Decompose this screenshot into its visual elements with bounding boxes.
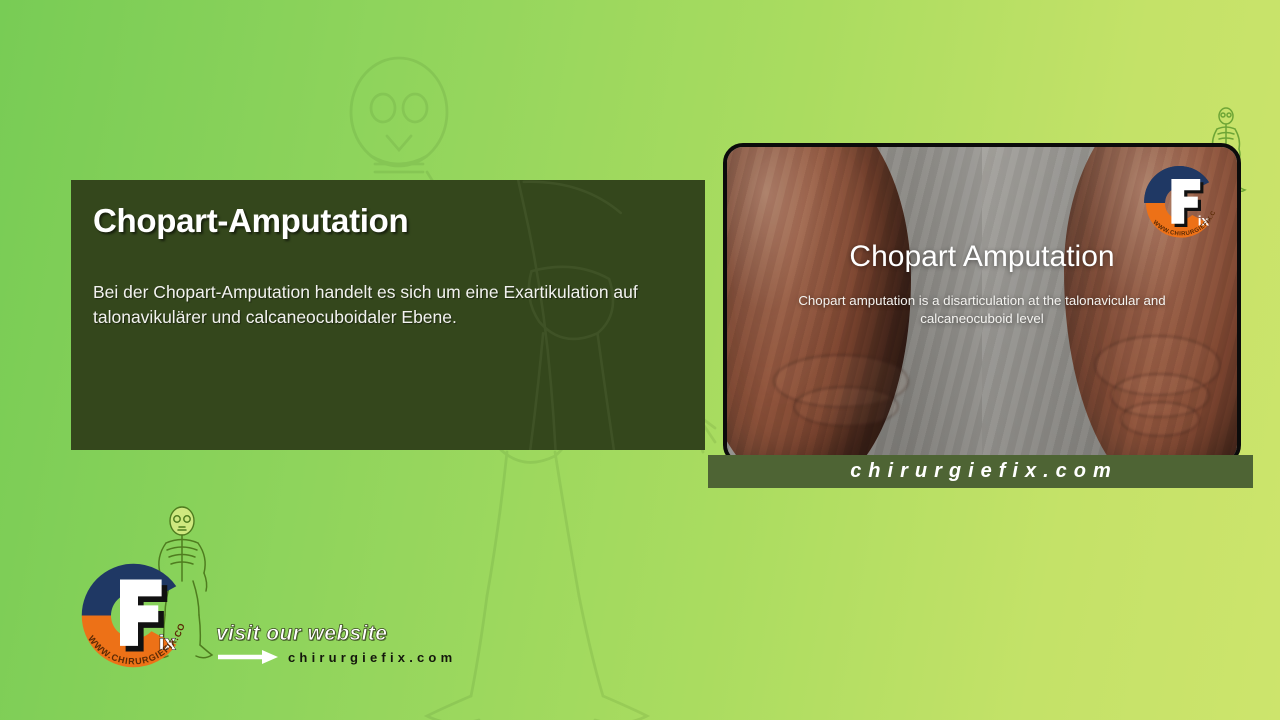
description-card: Chopart-Amputation Bei der Chopart-Amput… bbox=[71, 180, 705, 450]
footer-url-text[interactable]: chirurgiefix.com bbox=[288, 650, 456, 665]
site-url-banner[interactable]: chirurgiefix.com bbox=[708, 455, 1253, 488]
page-title: Chopart-Amputation bbox=[93, 202, 408, 240]
chirurgiefix-logo-icon[interactable]: ix WWW.CHIRURGIEFIX.COM bbox=[1133, 155, 1229, 251]
site-url-banner-text: chirurgiefix.com bbox=[843, 460, 1118, 483]
image-card-subtitle: Chopart amputation is a disarticulation … bbox=[772, 292, 1192, 328]
slide-canvas: Chopart-Amputation Bei der Chopart-Amput… bbox=[0, 0, 1280, 720]
right-arrow-icon bbox=[218, 649, 281, 665]
footer-chirurgiefix-logo-icon[interactable]: ix WWW.CHIRURGIEFIX.COM bbox=[66, 548, 201, 683]
image-card[interactable]: Chopart Amputation Chopart amputation is… bbox=[723, 143, 1241, 465]
description-text: Bei der Chopart-Amputation handelt es si… bbox=[93, 280, 663, 330]
visit-website-label: visit our website bbox=[216, 622, 387, 646]
